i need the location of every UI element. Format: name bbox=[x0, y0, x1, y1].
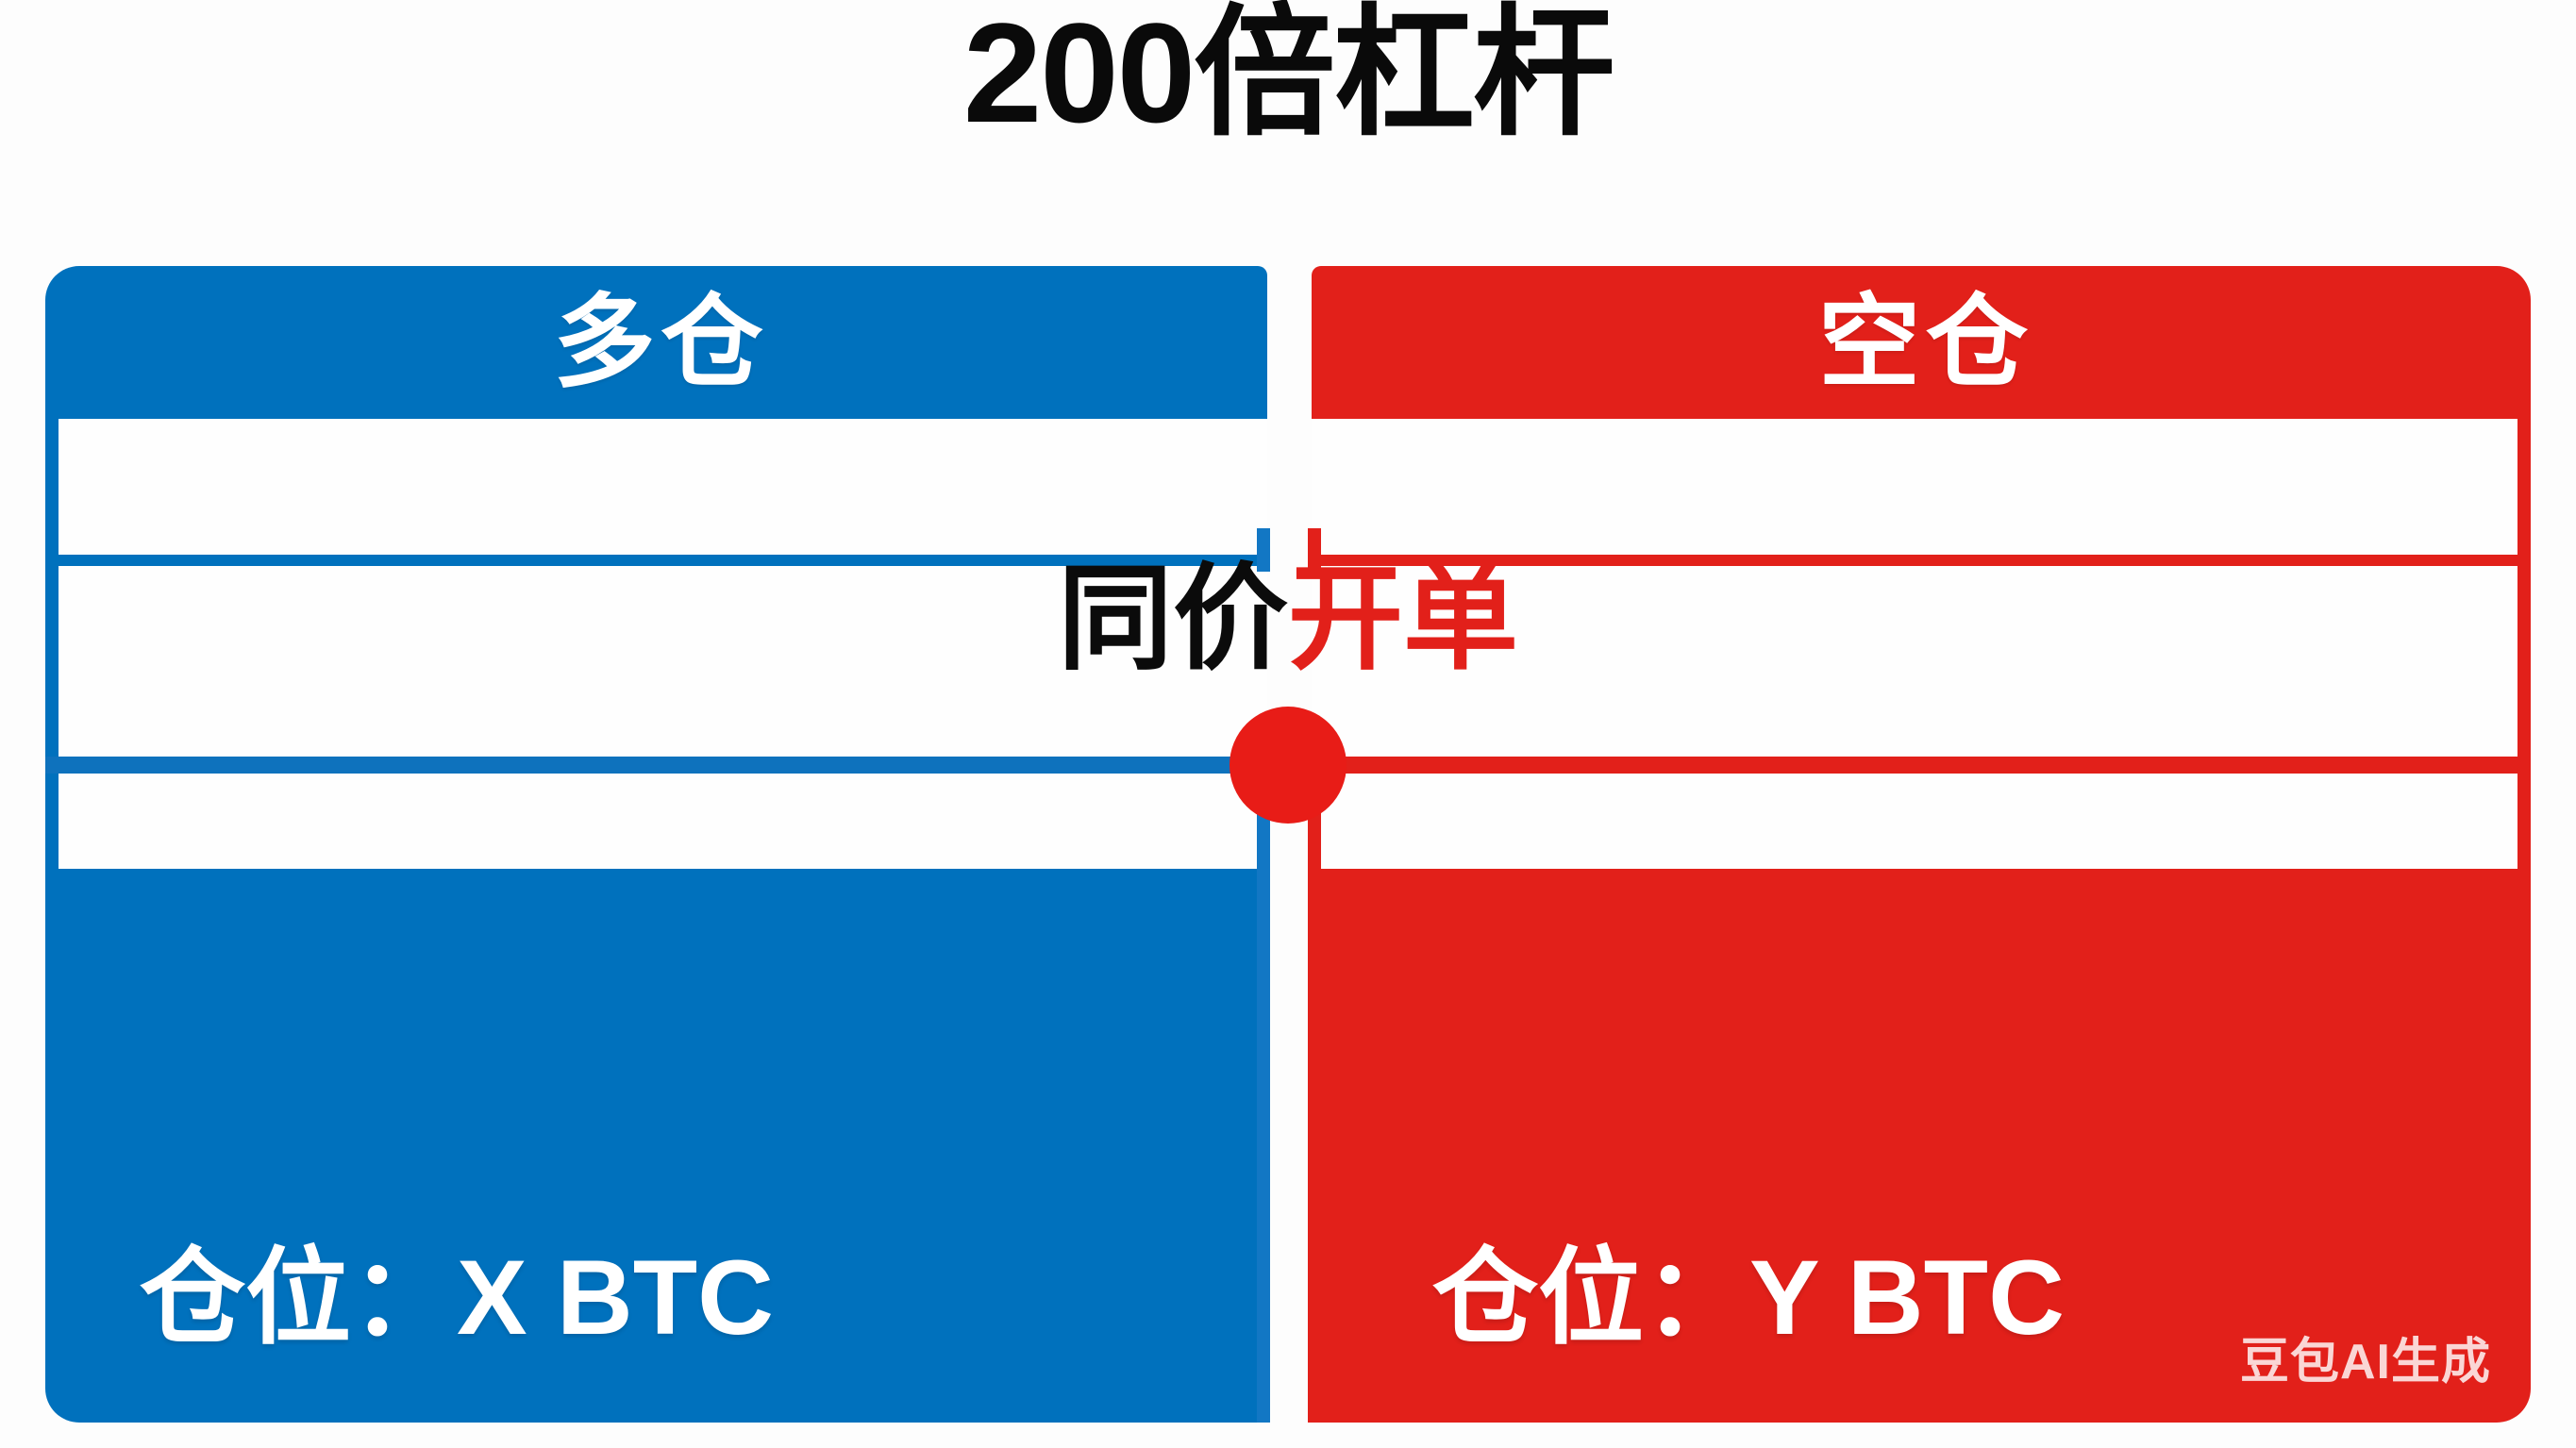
short-card-upper-panel bbox=[1312, 419, 2517, 555]
long-entry-price-line bbox=[45, 757, 1288, 774]
long-card-header-label: 多仓 bbox=[544, 291, 768, 393]
same-price-text: 同价 bbox=[1058, 555, 1288, 683]
short-entry-price-line bbox=[1288, 757, 2531, 774]
short-position-size-label: 仓位：Y BTC bbox=[1432, 1245, 2065, 1351]
long-position-card: 多仓 仓位：X BTC bbox=[45, 266, 1267, 1423]
ai-watermark: 豆包AI生成 bbox=[2240, 1338, 2491, 1387]
short-position-card: 空仓 仓位：Y BTC 豆包AI生成 bbox=[1312, 266, 2531, 1423]
short-card-header-label: 空仓 bbox=[1809, 291, 2033, 393]
long-price-wick-lower bbox=[1257, 813, 1270, 1423]
short-card-header: 空仓 bbox=[1312, 266, 2531, 419]
same-price-entry-label: 同价开单 bbox=[0, 561, 2576, 676]
page-title: 200倍杠杆 bbox=[0, 2, 2576, 143]
poster-canvas: 200倍杠杆 多仓 仓位：X BTC 空仓 仓位：Y BTC 豆包AI生成 同价… bbox=[0, 0, 2576, 1448]
entry-price-dot-icon bbox=[1229, 707, 1347, 824]
long-card-footer: 仓位：X BTC bbox=[45, 1173, 1362, 1423]
long-position-size-label: 仓位：X BTC bbox=[140, 1245, 774, 1351]
short-price-wick-lower bbox=[1308, 813, 1321, 1423]
long-card-header: 多仓 bbox=[45, 266, 1267, 419]
long-card-upper-panel bbox=[59, 419, 1267, 555]
open-order-text: 开单 bbox=[1288, 555, 1518, 683]
